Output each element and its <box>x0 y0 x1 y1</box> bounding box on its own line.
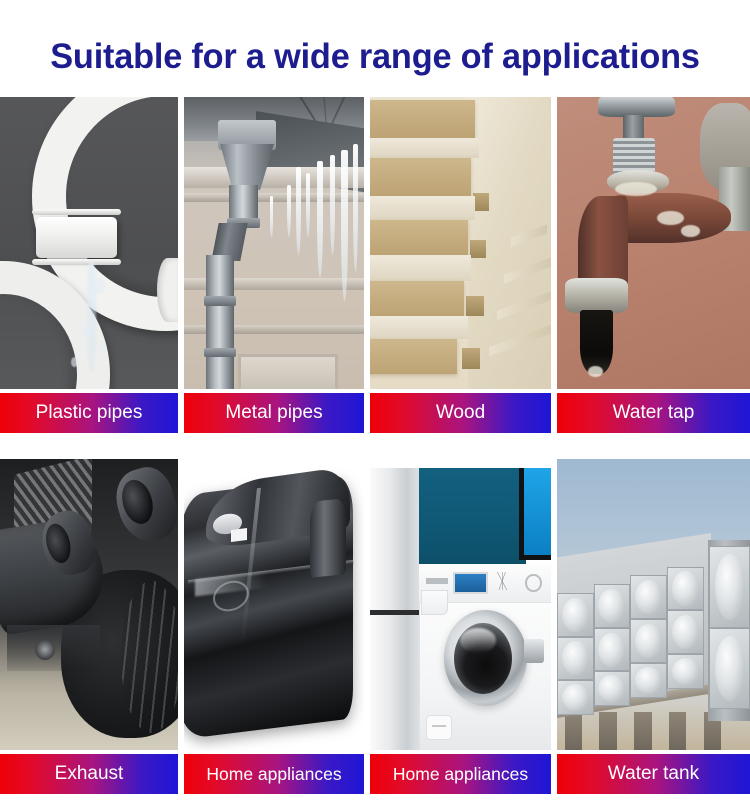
pipe-ring-bottom <box>32 259 121 265</box>
tap-outlet <box>580 310 613 374</box>
tank-panel <box>557 593 594 637</box>
washer-panel-slot <box>426 578 448 584</box>
application-cell-home-appliances-1[interactable]: Home appliances <box>184 459 364 800</box>
downspout-section <box>206 255 235 389</box>
lumber-board <box>370 339 457 374</box>
tank-side-panel <box>709 546 750 627</box>
board-face <box>370 100 475 138</box>
photo-water-tank <box>557 459 750 750</box>
metal-downspout-image <box>184 97 364 389</box>
lumber-board <box>370 100 475 138</box>
tank-support-leg <box>565 712 582 750</box>
refrigerator-door-gap <box>370 610 419 615</box>
wall-screen <box>519 468 551 560</box>
board-gap <box>370 316 468 339</box>
caption-exhaust: Exhaust <box>0 754 178 794</box>
downspout-band <box>204 296 236 306</box>
tank-support-leg <box>669 712 686 750</box>
tank-support-leg <box>634 712 651 750</box>
tank-panel <box>557 680 594 715</box>
lumber-board <box>370 281 464 316</box>
suspension-axle <box>7 625 100 672</box>
application-cell-water-tap[interactable]: Water tap <box>557 97 750 437</box>
water-tap-image <box>557 97 750 389</box>
board-face <box>370 220 468 255</box>
caption-water-tank: Water tank <box>557 754 750 794</box>
application-cell-water-tank[interactable]: Water tank <box>557 459 750 800</box>
application-cell-plastic-pipes[interactable]: Plastic pipes <box>0 97 178 437</box>
water-drip <box>82 325 91 338</box>
lumber-board <box>370 158 471 196</box>
washer-display <box>453 572 488 593</box>
application-cell-exhaust[interactable]: Exhaust <box>0 459 178 800</box>
washing-machine-image <box>370 459 551 750</box>
tank-panel <box>630 619 667 663</box>
icicle <box>341 150 348 302</box>
photo-plastic-pipes <box>0 97 178 389</box>
icicle <box>270 196 273 237</box>
tank-panel <box>557 637 594 681</box>
application-row-1: Plastic pipes <box>0 97 750 437</box>
tank-panel <box>630 575 667 619</box>
caption-water-tap: Water tap <box>557 393 750 433</box>
tank-panel <box>667 610 704 654</box>
page-title: Suitable for a wide range of application… <box>8 28 743 86</box>
pipe-stub-right <box>157 258 178 322</box>
photo-fuel-tank <box>184 459 364 750</box>
icicle <box>317 161 323 278</box>
exhaust-image <box>0 459 178 750</box>
tank-panel <box>667 567 704 611</box>
spacer-block <box>466 296 484 316</box>
board-face <box>370 281 464 316</box>
caption-home-appliances-1: Home appliances <box>184 754 364 794</box>
caption-wood: Wood <box>370 393 551 433</box>
application-cell-wood[interactable]: Wood <box>370 97 551 437</box>
water-drip <box>71 357 78 367</box>
lumber-board <box>370 220 468 255</box>
caption-home-appliances-2: Home appliances <box>370 754 551 794</box>
photo-washing-machine <box>370 459 551 750</box>
board-gap <box>370 138 479 158</box>
washer-program-icons <box>489 572 518 589</box>
icicle <box>296 167 301 255</box>
tap-outlet-nut <box>565 278 629 313</box>
window-frame <box>238 354 338 389</box>
tank-side-panel <box>709 628 750 709</box>
washer-detergent-drawer <box>421 590 448 615</box>
refrigerator <box>370 468 419 750</box>
tank-panel <box>594 584 631 628</box>
water-drip <box>93 278 105 294</box>
downspout-band <box>204 348 236 357</box>
spacer-block <box>462 348 480 368</box>
washer-door-handle <box>524 639 544 662</box>
mineral-deposit <box>681 225 700 237</box>
tank-panel <box>667 654 704 689</box>
board-face <box>370 339 457 374</box>
stacked-lumber-image <box>370 97 551 389</box>
pipe-ring-top <box>32 209 121 215</box>
photo-water-tap <box>557 97 750 389</box>
mineral-deposit <box>588 366 603 378</box>
tank-filler-neck <box>310 498 346 577</box>
caption-metal-pipes: Metal pipes <box>184 393 364 433</box>
application-grid-infographic: Suitable for a wide range of application… <box>0 0 750 800</box>
tank-highlight <box>231 528 247 542</box>
caption-plastic-pipes: Plastic pipes <box>0 393 178 433</box>
tank-support-leg <box>599 712 616 750</box>
tank-panel <box>594 628 631 672</box>
icicle <box>330 155 335 254</box>
cornice-band <box>184 167 364 187</box>
application-cell-metal-pipes[interactable]: Metal pipes <box>184 97 364 437</box>
icicle <box>287 185 291 238</box>
application-row-2: Exhaust Home appliances <box>0 459 750 800</box>
fuel-tank-image <box>184 459 364 750</box>
exhaust-bore <box>116 476 157 528</box>
spacer-block <box>473 193 489 211</box>
washer-badge <box>426 715 452 740</box>
pipe-coupling-nut <box>36 217 118 258</box>
board-face <box>370 158 471 196</box>
wall-panel <box>419 468 526 564</box>
water-stream <box>87 261 96 372</box>
application-cell-home-appliances-2[interactable]: Home appliances <box>370 459 551 800</box>
icicle <box>306 173 310 237</box>
photo-exhaust <box>0 459 178 750</box>
photo-metal-pipes <box>184 97 364 389</box>
spacer-block <box>470 240 486 258</box>
exhaust-bore <box>42 522 74 566</box>
board-gap <box>370 255 471 281</box>
photo-wood <box>370 97 551 389</box>
plastic-pipe-image <box>0 97 178 389</box>
tire-tread <box>121 581 178 732</box>
water-tank-image <box>557 459 750 750</box>
cornice-band <box>184 193 364 202</box>
icicle <box>353 144 358 272</box>
board-gap <box>370 196 475 219</box>
washer-door-glass <box>454 623 512 694</box>
tank-panel <box>594 671 631 706</box>
water-drip <box>98 342 106 353</box>
tank-panel <box>630 663 667 698</box>
